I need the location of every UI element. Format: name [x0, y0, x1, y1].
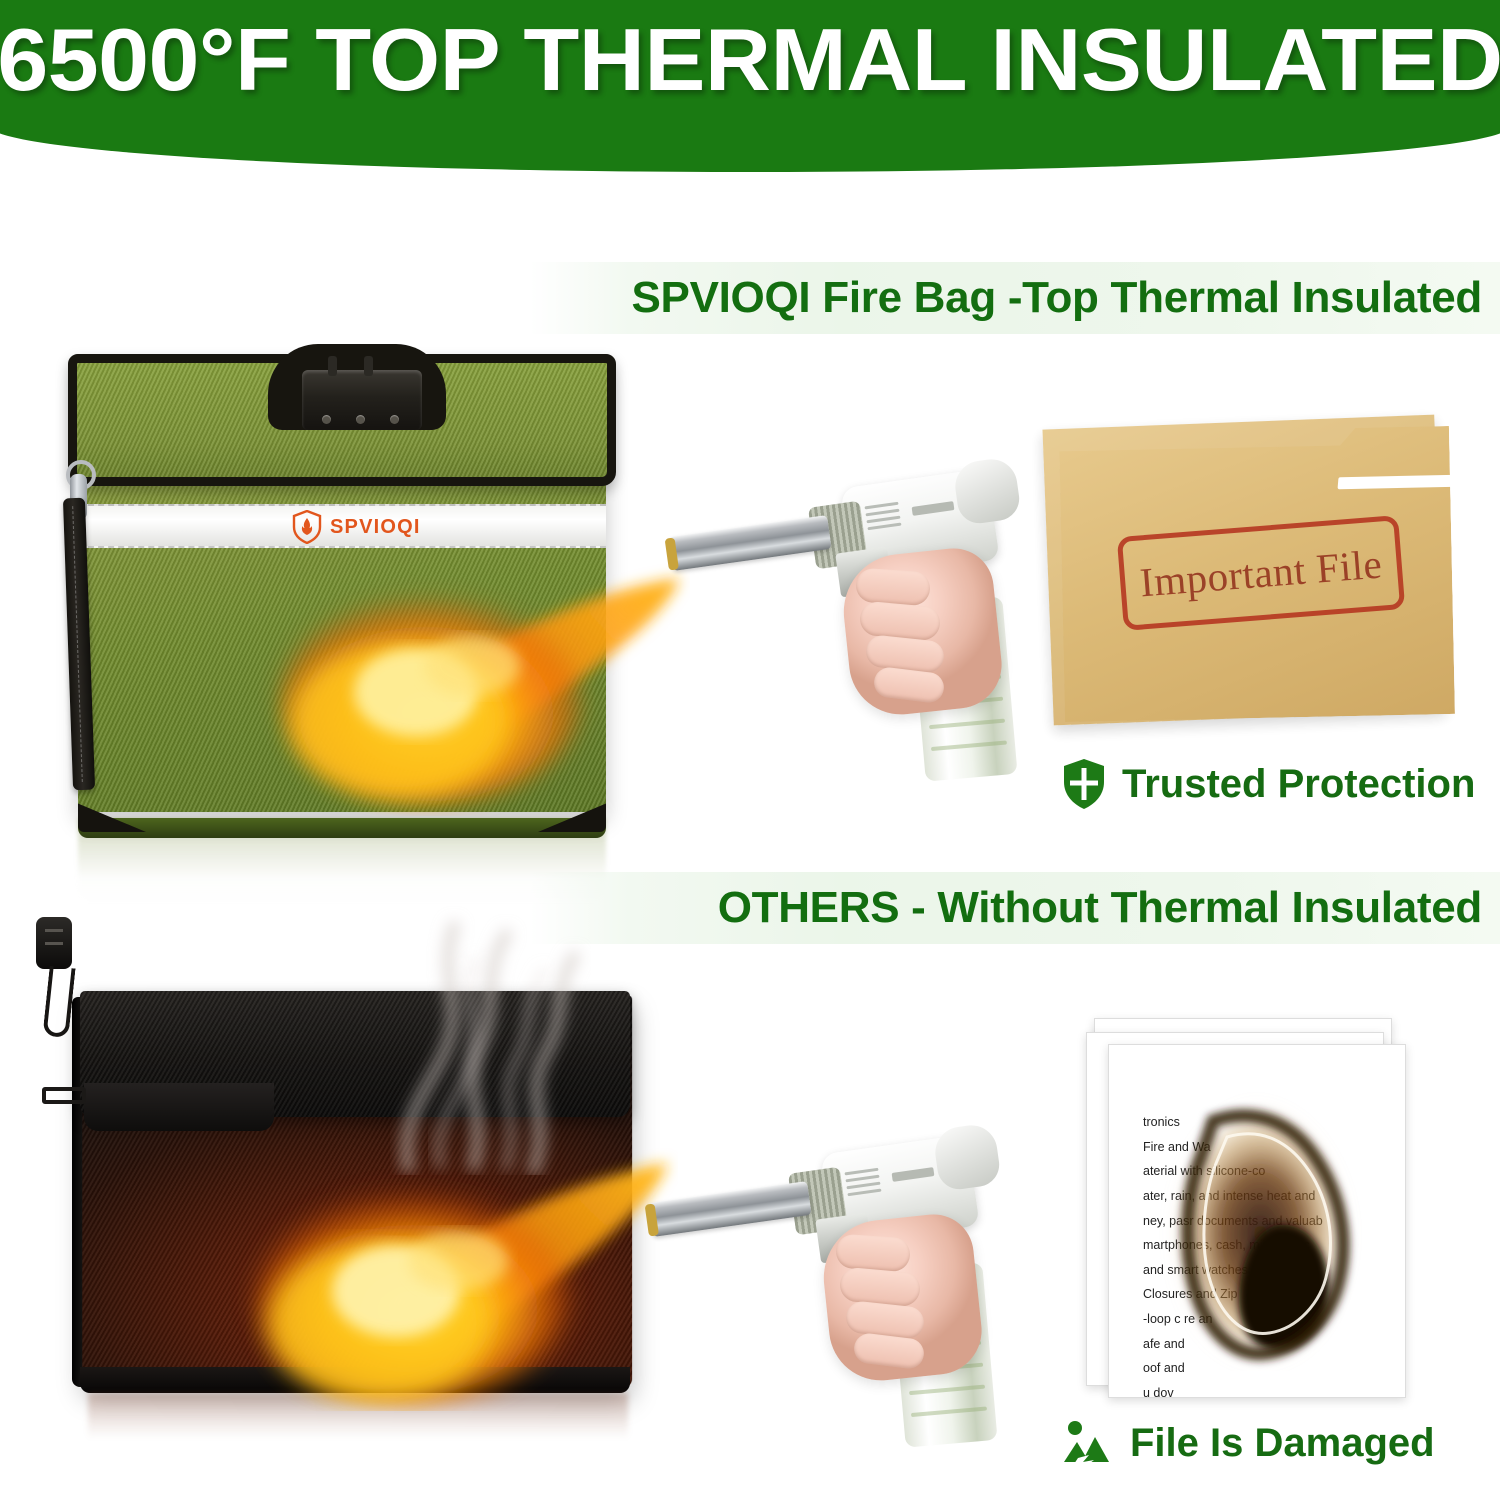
top-section-label: SPVIOQI Fire Bag -Top Thermal Insulated — [631, 273, 1482, 323]
torch-nozzle — [648, 1181, 811, 1237]
doc-line: ney, pasr documents and valuab — [1143, 1214, 1379, 1230]
doc-line: aterial with silicone-co — [1143, 1164, 1379, 1180]
brand-logo: SPVIOQI — [292, 510, 421, 544]
doc-line: afe and — [1143, 1337, 1379, 1353]
flame-shield-icon — [292, 510, 322, 544]
trusted-protection-label: Trusted Protection — [1122, 762, 1475, 807]
doc-line: and smart watches — [1143, 1263, 1379, 1279]
folder-tab-cut — [1338, 475, 1461, 490]
brand-logo-text: SPVIOQI — [330, 516, 421, 539]
torch-rear-cap — [932, 1122, 1002, 1192]
status-badge-trusted-protection: Trusted Protection — [1062, 758, 1475, 810]
doc-line: oof and — [1143, 1361, 1379, 1377]
green-fire-bag: SPVIOQI — [40, 348, 640, 848]
black-bag-bottom-edge — [80, 1367, 630, 1393]
torch-rear-cap — [952, 456, 1022, 526]
torch-vent-icon — [844, 1168, 881, 1196]
black-fire-bag — [28, 905, 668, 1425]
green-bag-bottom-edge — [78, 818, 606, 838]
butane-torch-top — [660, 432, 1020, 762]
top-section-label-band: SPVIOQI Fire Bag -Top Thermal Insulated — [530, 262, 1500, 334]
document-text-block: tronics Fire and Wa aterial with silicon… — [1143, 1115, 1379, 1398]
infographic-canvas: 6500°F TOP THERMAL INSULATED SPVIOQI Fir… — [0, 0, 1500, 1500]
finger-1 — [835, 1233, 911, 1272]
black-bag-cord — [42, 966, 75, 1038]
black-bag-side-tab — [42, 1087, 86, 1104]
doc-line: ater, rain, and intense heat and — [1143, 1189, 1379, 1205]
doc-line: Fire and Wa — [1143, 1140, 1379, 1156]
file-damaged-label: File Is Damaged — [1130, 1421, 1435, 1466]
torch-nozzle — [668, 515, 831, 571]
bottom-section-label: OTHERS - Without Thermal Insulated — [718, 883, 1482, 933]
doc-line: Closures and Zip — [1143, 1287, 1379, 1303]
doc-line: tronics — [1143, 1115, 1379, 1131]
black-bag-flap-lip — [84, 1083, 274, 1131]
doc-line: martphones, cash, military rec — [1143, 1238, 1379, 1254]
broken-image-icon — [1062, 1418, 1114, 1468]
stamp-text: Important File — [1138, 540, 1384, 607]
doc-line: -loop c re an — [1143, 1312, 1379, 1328]
page-title: 6500°F TOP THERMAL INSULATED — [0, 16, 1500, 104]
burnt-documents: tronics Fire and Wa aterial with silicon… — [1078, 1018, 1428, 1400]
combination-lock-icon — [302, 370, 422, 430]
manila-folder: Important File — [1040, 408, 1460, 738]
butane-torch-bottom — [640, 1098, 1000, 1428]
torch-vent-icon — [864, 502, 901, 530]
shield-check-icon — [1062, 758, 1106, 810]
bottom-section-label-band: OTHERS - Without Thermal Insulated — [530, 872, 1500, 944]
black-bag-reflection — [88, 1393, 628, 1439]
buckle-clip-icon — [36, 917, 72, 969]
doc-line: u dov — [1143, 1386, 1379, 1398]
paper-sheet-front: tronics Fire and Wa aterial with silicon… — [1108, 1044, 1406, 1398]
header-banner: 6500°F TOP THERMAL INSULATED — [0, 0, 1500, 172]
status-badge-file-damaged: File Is Damaged — [1062, 1418, 1435, 1468]
finger-1 — [855, 567, 931, 606]
